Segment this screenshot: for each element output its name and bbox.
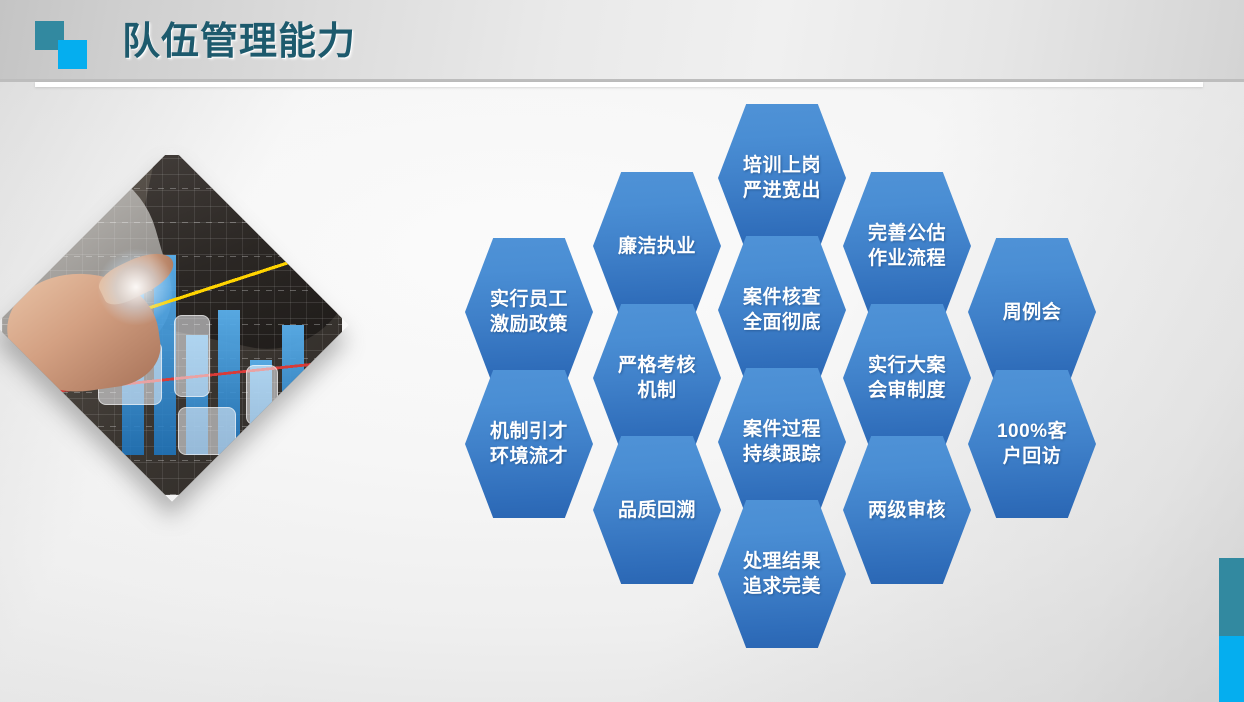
photo-touch-glow xyxy=(98,249,174,325)
hexagon-label: 培训上岗 严进宽出 xyxy=(737,153,827,203)
hexagon-label: 严格考核 机制 xyxy=(612,353,702,403)
page-title: 队伍管理能力 xyxy=(122,18,356,66)
hexagon-label: 完善公估 作业流程 xyxy=(862,221,952,271)
hexagon-label: 廉洁执业 xyxy=(612,234,702,259)
hexagon-label: 100%客 户回访 xyxy=(991,419,1073,469)
slide-canvas: 队伍管理能力 实行员工 激励政策机制引才 环境流才廉洁执业严格考核 机制品 xyxy=(0,0,1244,702)
corner-accent-cyan xyxy=(1219,636,1244,702)
hexagon-label: 处理结果 追求完美 xyxy=(737,549,827,599)
hexagon-label: 两级审核 xyxy=(862,498,952,523)
hexagon-label: 案件核查 全面彻底 xyxy=(737,285,827,335)
corner-accent-teal xyxy=(1219,558,1244,636)
header-marker-cyan-square xyxy=(58,40,87,69)
hexagon-label: 品质回溯 xyxy=(612,498,702,523)
header-underline xyxy=(35,82,1203,87)
hexagon-label: 机制引才 环境流才 xyxy=(484,419,574,469)
hexagon-label: 案件过程 持续跟踪 xyxy=(737,417,827,467)
hexagon-label: 实行大案 会审制度 xyxy=(862,353,952,403)
photo-ui-card xyxy=(174,315,210,397)
hexagon-label: 实行员工 激励政策 xyxy=(484,287,574,337)
hexagon-label: 周例会 xyxy=(997,300,1068,325)
